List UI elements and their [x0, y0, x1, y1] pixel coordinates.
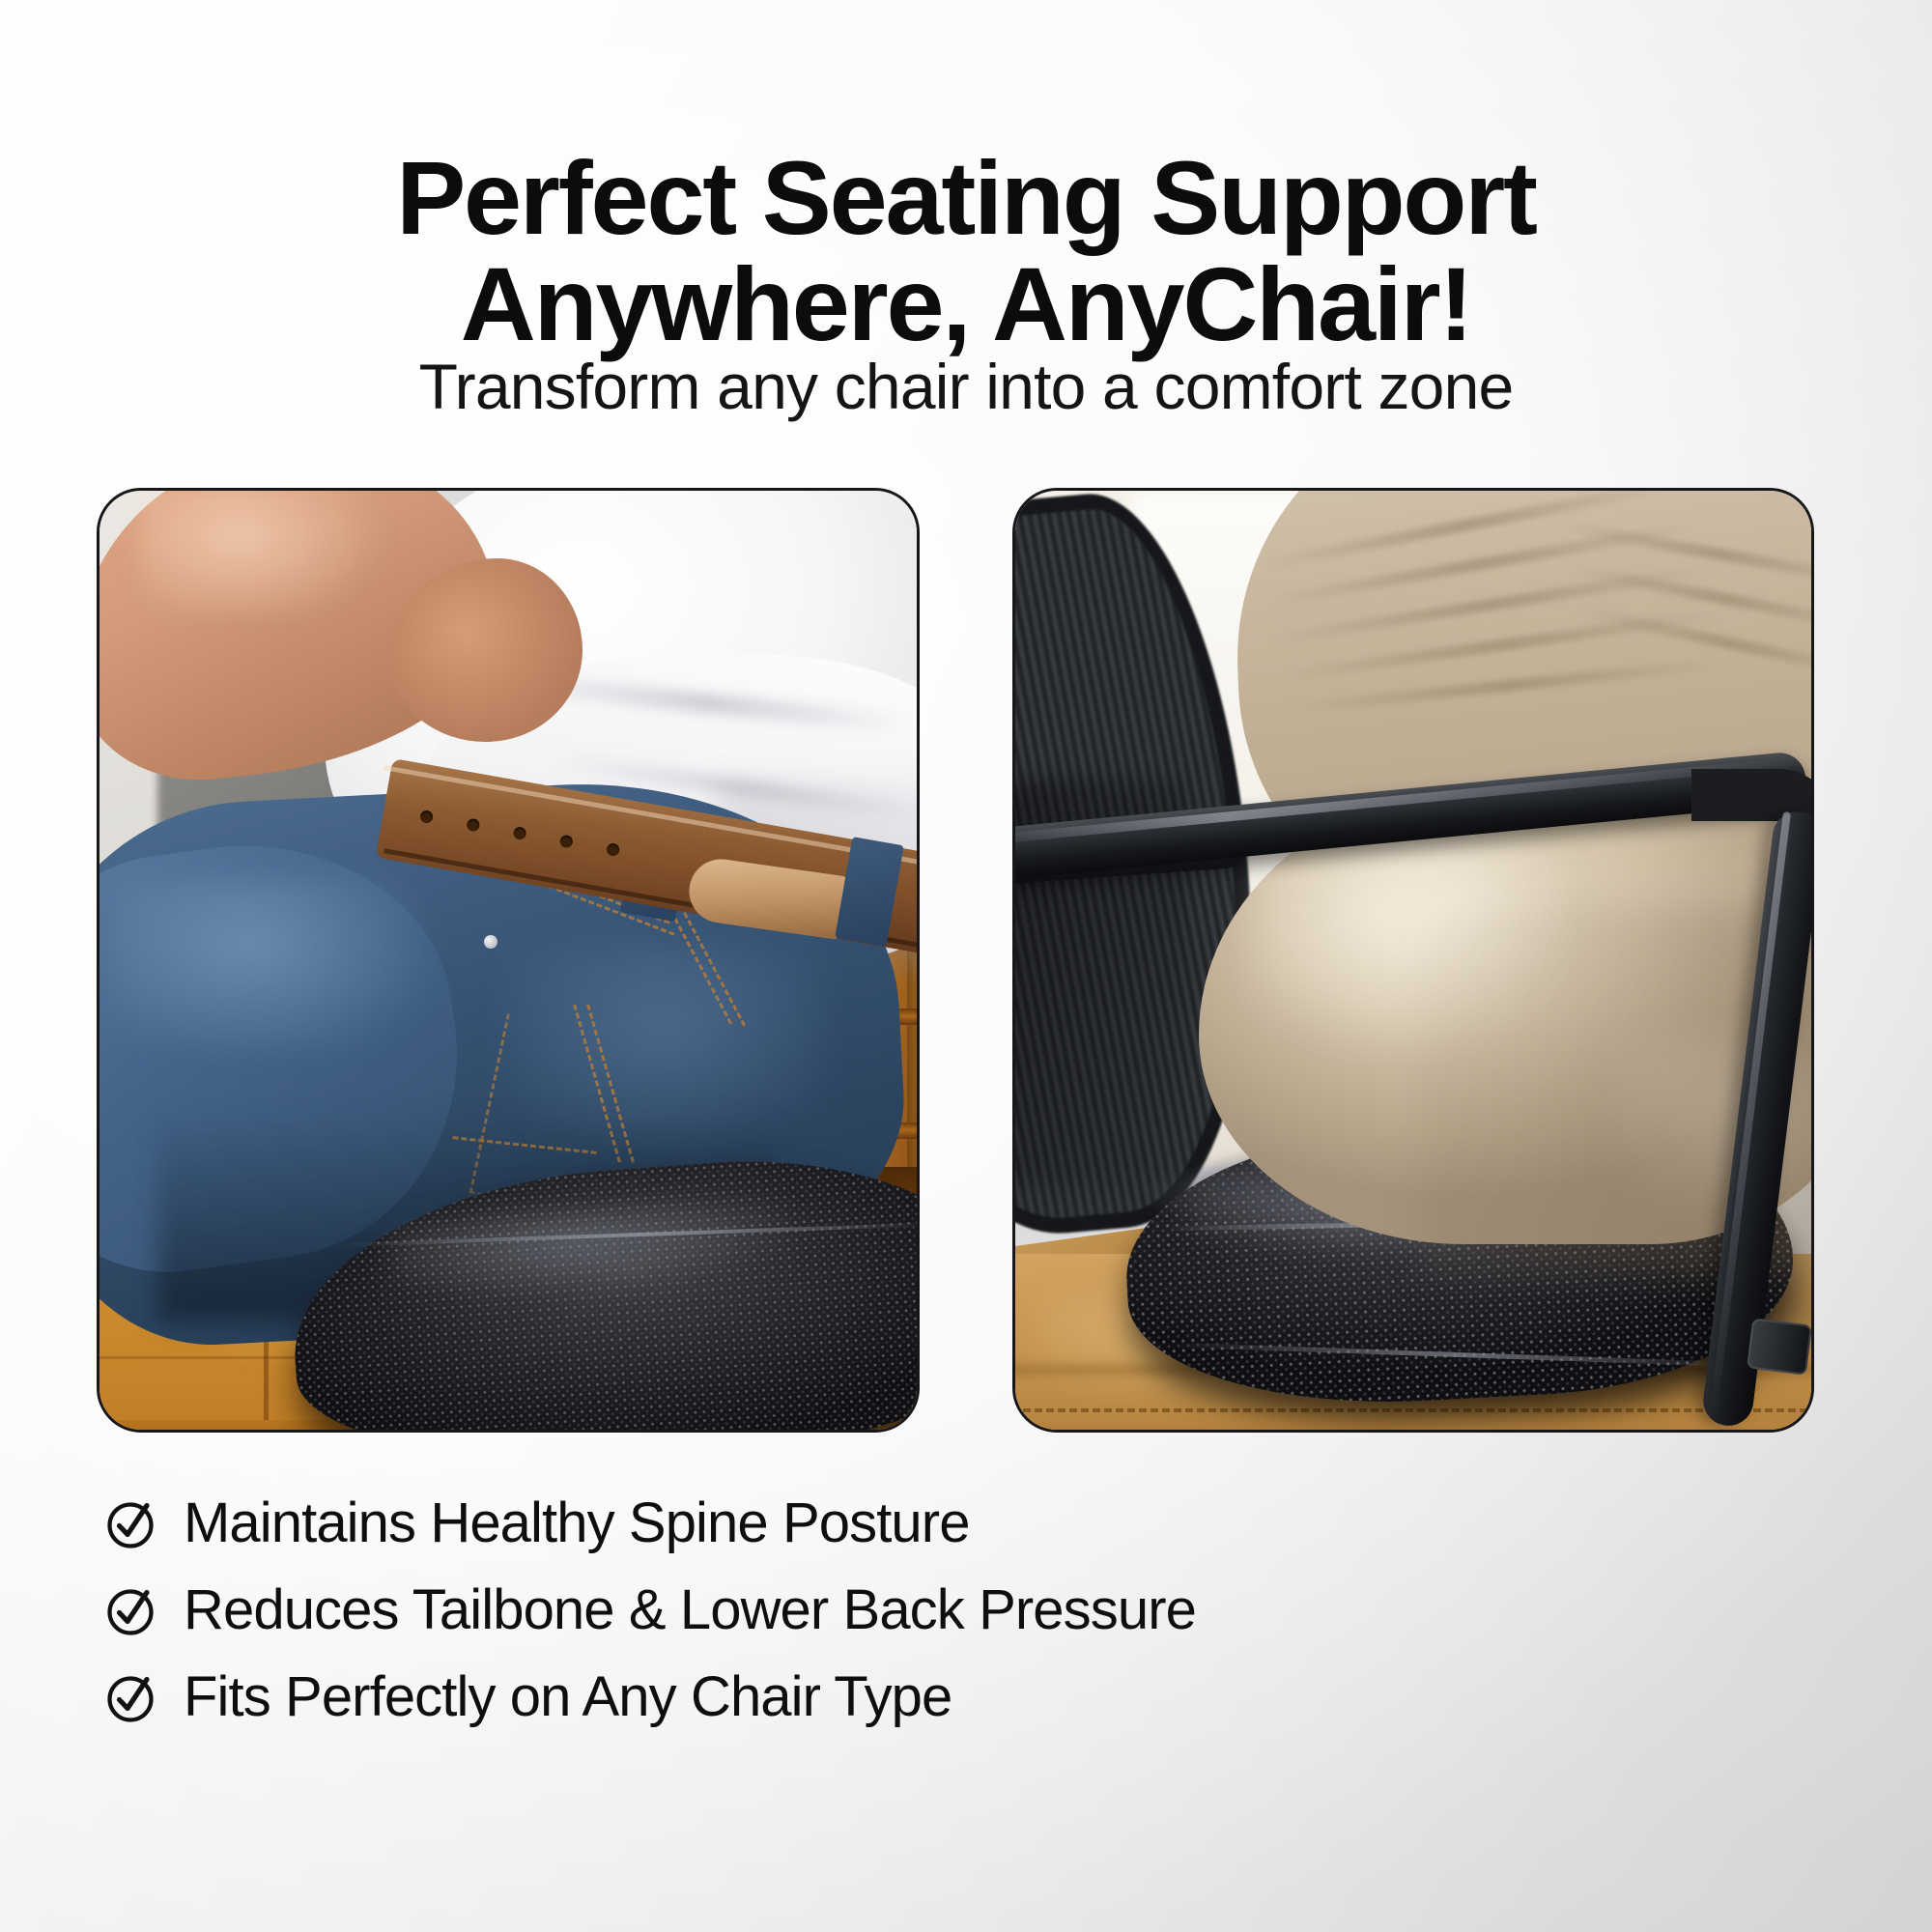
- leather-seat-edge: [1015, 1423, 1811, 1430]
- belt-hole: [559, 834, 574, 848]
- benefit-label: Fits Perfectly on Any Chair Type: [184, 1666, 952, 1728]
- belt-hole: [419, 810, 434, 824]
- armrest-joint: [1747, 1318, 1811, 1375]
- skin-highlight: [138, 491, 389, 616]
- promo-banner: Perfect Seating Support Anywhere, AnyCha…: [0, 0, 1932, 1932]
- product-photo-wooden-chair: [97, 488, 920, 1433]
- office-chair-scene: [1015, 491, 1811, 1430]
- benefit-label: Reduces Tailbone & Lower Back Pressure: [184, 1579, 1196, 1641]
- benefit-label: Maintains Healthy Spine Posture: [184, 1492, 970, 1554]
- headline-line-1: Perfect Seating Support: [0, 145, 1932, 251]
- page-subtitle: Transform any chair into a comfort zone: [0, 353, 1932, 420]
- check-circle-icon: [104, 1497, 156, 1549]
- product-photo-gallery: [97, 488, 1814, 1433]
- belt-hole: [606, 842, 620, 857]
- benefit-item: Reduces Tailbone & Lower Back Pressure: [97, 1573, 1546, 1648]
- check-circle-icon: [104, 1671, 156, 1723]
- wooden-chair-scene: [99, 491, 917, 1430]
- product-photo-office-chair: [1012, 488, 1814, 1433]
- belt-hole: [466, 817, 480, 832]
- benefit-item: Maintains Healthy Spine Posture: [97, 1486, 1546, 1561]
- belt-hole: [513, 826, 527, 840]
- benefits-list: Maintains Healthy Spine Posture Reduces …: [97, 1486, 1546, 1747]
- benefit-item: Fits Perfectly on Any Chair Type: [97, 1660, 1546, 1735]
- jeans-highlight: [109, 877, 428, 1051]
- check-circle-icon: [104, 1584, 156, 1636]
- headline-line-2: Anywhere, AnyChair!: [0, 251, 1932, 357]
- page-title: Perfect Seating Support Anywhere, AnyCha…: [0, 145, 1932, 357]
- jeans-rivet: [484, 935, 497, 949]
